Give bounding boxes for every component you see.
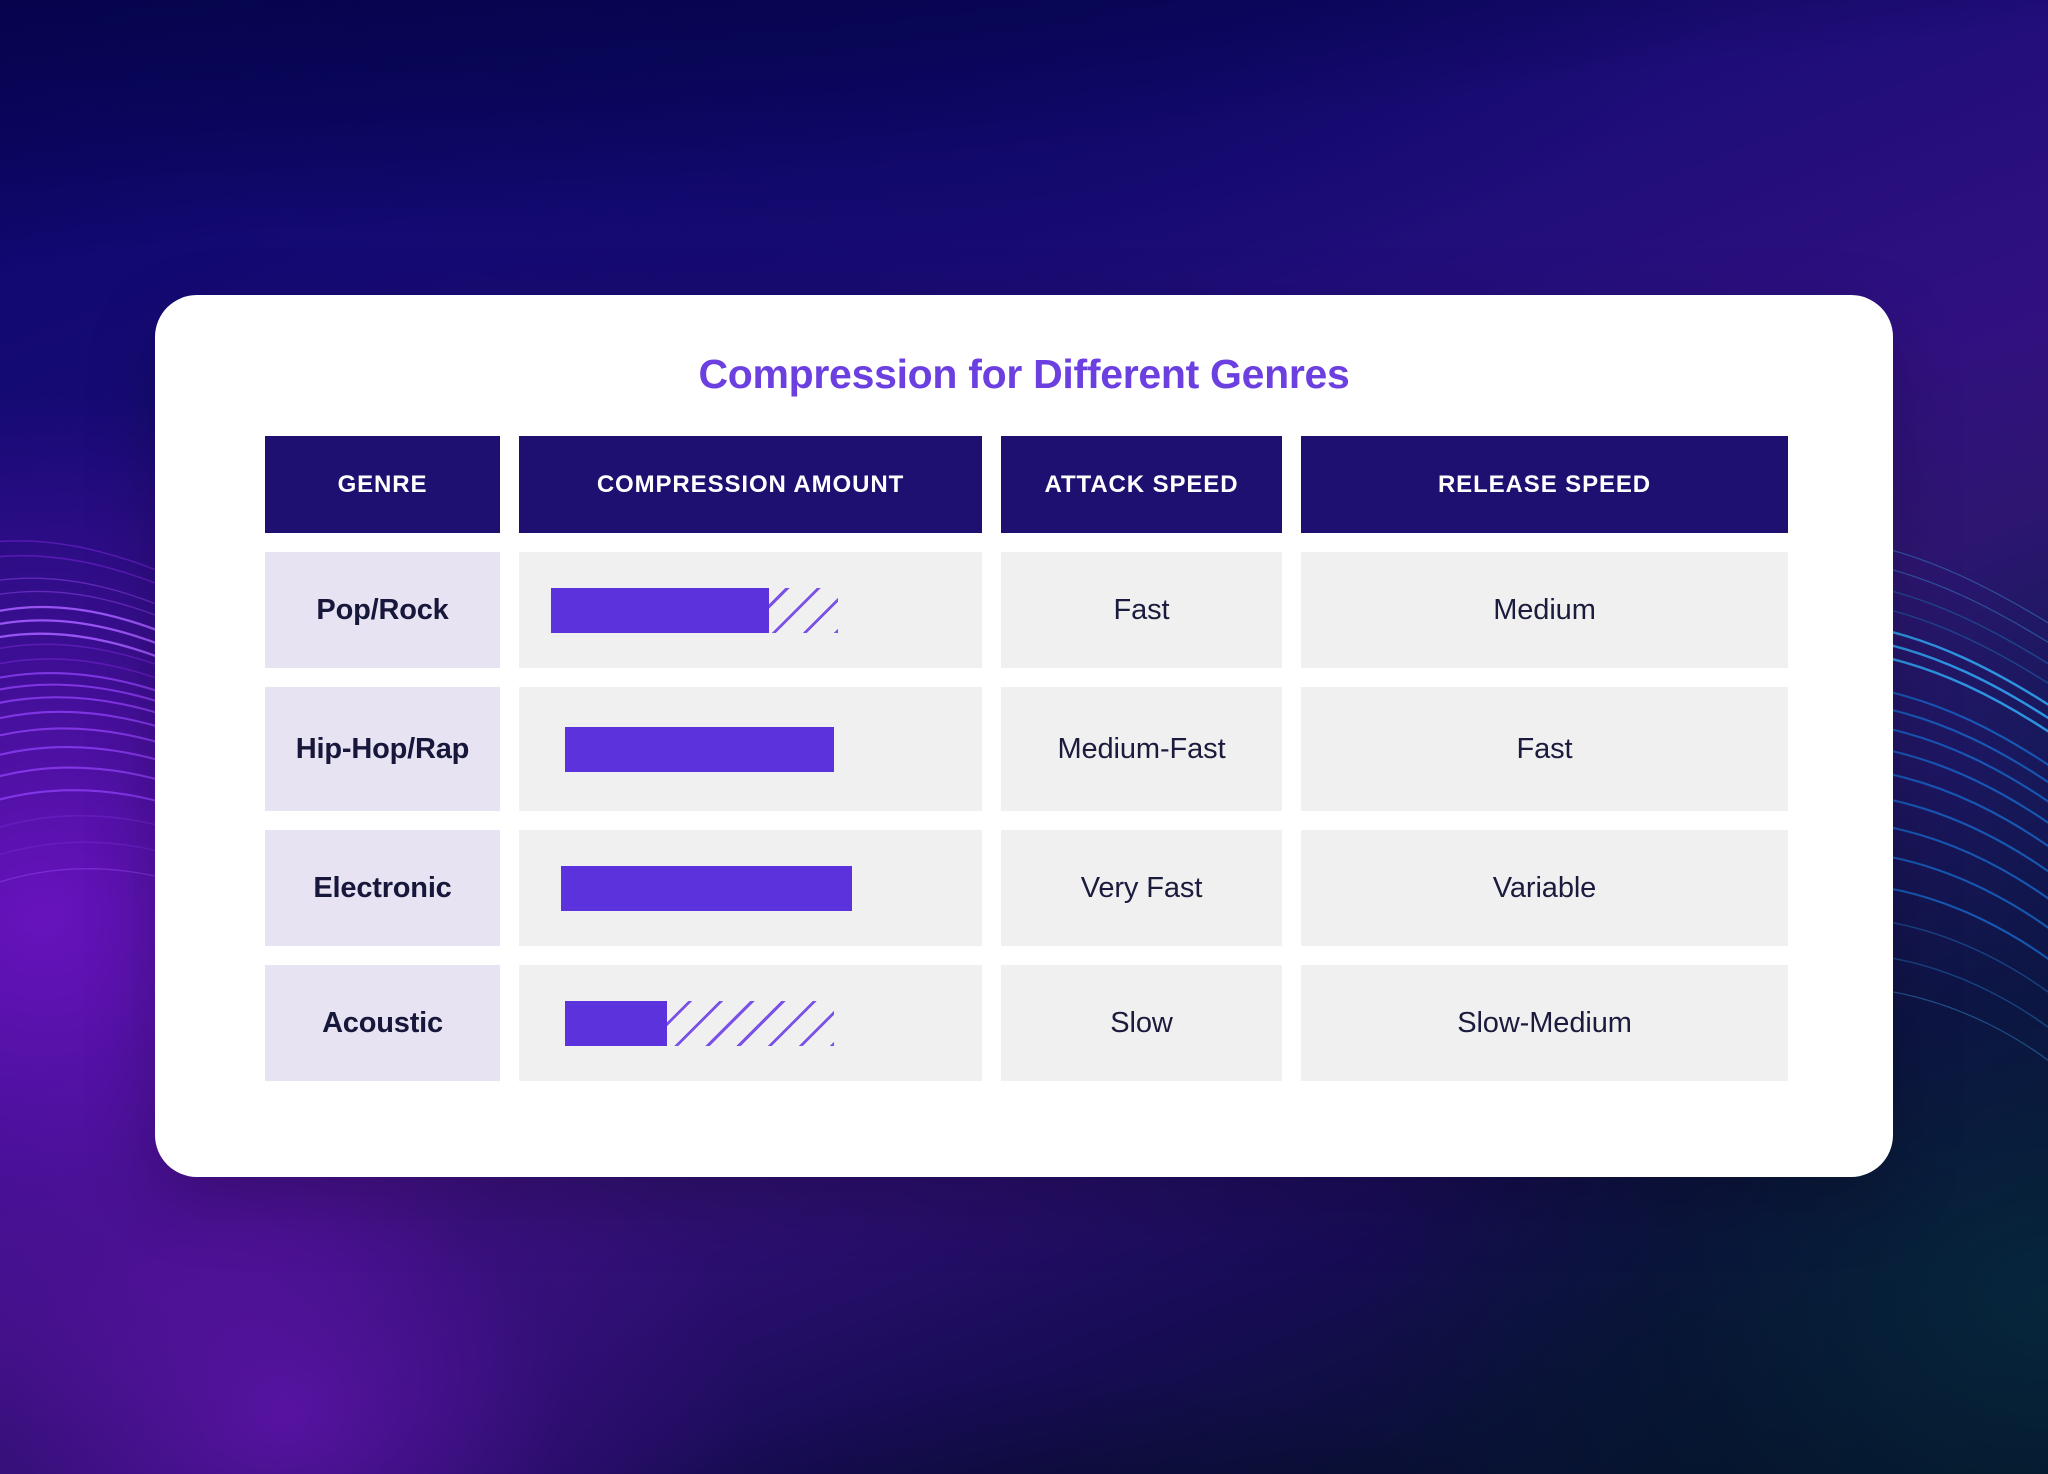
table-row: Electronic Very Fast Variable: [265, 830, 1783, 946]
table-row: Pop/Rock Fast Medium: [265, 552, 1783, 668]
attack-speed-value: Slow: [1001, 965, 1282, 1081]
column-header-attack-speed: ATTACK SPEED: [1001, 436, 1282, 533]
content-card: Compression for Different Genres GENRE C…: [155, 295, 1893, 1177]
table-row: Hip-Hop/Rap Medium-Fast Fast: [265, 687, 1783, 811]
compression-bar-cell: [519, 965, 982, 1081]
bar-solid-segment: [565, 1001, 667, 1046]
compression-bar-cell: [519, 830, 982, 946]
table-row: Acoustic Slow Slow-Medium: [265, 965, 1783, 1081]
release-speed-value: Medium: [1301, 552, 1788, 668]
bar-solid-segment: [561, 866, 853, 911]
compression-bar-cell: [519, 687, 982, 811]
attack-speed-value: Very Fast: [1001, 830, 1282, 946]
column-header-compression-amount: COMPRESSION AMOUNT: [519, 436, 982, 533]
column-header-genre: GENRE: [265, 436, 500, 533]
attack-speed-value: Fast: [1001, 552, 1282, 668]
release-speed-value: Variable: [1301, 830, 1788, 946]
bar-hatched-segment: [667, 1001, 834, 1046]
compression-bar: [565, 727, 834, 772]
bar-solid-segment: [551, 588, 769, 633]
compression-bar: [565, 1001, 834, 1046]
page-title: Compression for Different Genres: [155, 295, 1893, 398]
genre-label: Electronic: [265, 830, 500, 946]
genre-label: Hip-Hop/Rap: [265, 687, 500, 811]
table-header-row: GENRE COMPRESSION AMOUNT ATTACK SPEED RE…: [265, 436, 1783, 533]
compression-bar: [551, 588, 838, 633]
genre-label: Pop/Rock: [265, 552, 500, 668]
bar-solid-segment: [565, 727, 834, 772]
compression-bar-cell: [519, 552, 982, 668]
bar-hatched-segment: [769, 588, 838, 633]
release-speed-value: Fast: [1301, 687, 1788, 811]
compression-bar: [561, 866, 853, 911]
attack-speed-value: Medium-Fast: [1001, 687, 1282, 811]
screenshot-stage: Compression for Different Genres GENRE C…: [0, 0, 2048, 1474]
release-speed-value: Slow-Medium: [1301, 965, 1788, 1081]
comparison-table: GENRE COMPRESSION AMOUNT ATTACK SPEED RE…: [265, 436, 1783, 1081]
genre-label: Acoustic: [265, 965, 500, 1081]
column-header-release-speed: RELEASE SPEED: [1301, 436, 1788, 533]
